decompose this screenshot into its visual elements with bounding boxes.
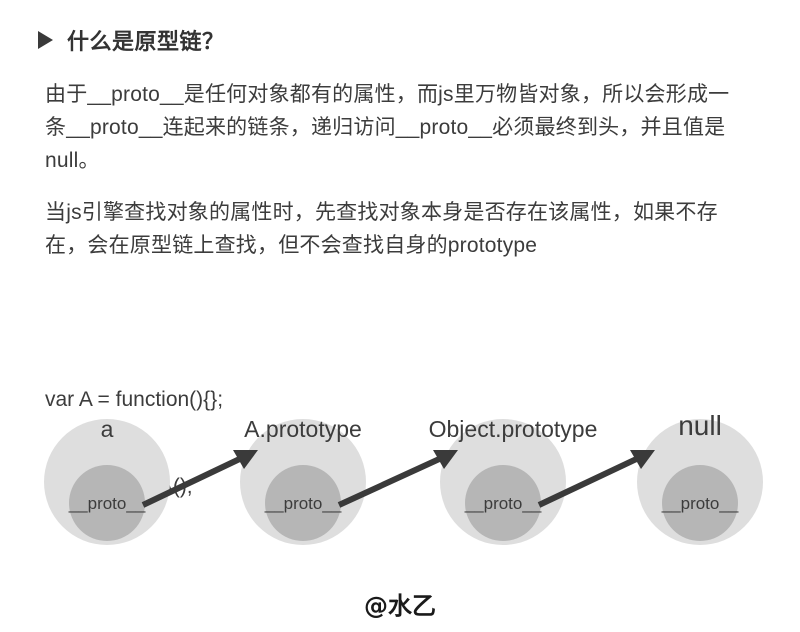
inner-label: __proto__ [464,494,542,513]
node-title: a [101,416,114,442]
chain-node-a-prototype: __proto__ A.prototype [240,416,366,545]
node-title: null [678,410,722,441]
inner-label: __proto__ [264,494,342,513]
node-title: A.prototype [244,416,362,442]
inner-label: __proto__ [68,494,146,513]
chain-node-object-prototype: __proto__ Object.prototype [429,416,598,545]
paragraph-lookup: 当js引擎查找对象的属性时，先查找对象本身是否存在该属性，如果不存在，会在原型链… [45,196,745,262]
author-watermark: @水乙 [0,586,800,621]
page-heading: 什么是原型链？ [38,24,225,56]
page-title: 什么是原型链？ [67,24,225,56]
inner-label: __proto__ [661,494,739,513]
triangle-right-icon [38,31,53,49]
paragraph-definition: 由于__proto__是任何对象都有的属性，而js里万物皆对象，所以会形成一条_… [45,78,745,177]
chain-node-null: __proto__ null [637,410,763,545]
prototype-chain-diagram: __proto__ a __proto__ A.prototype __prot… [0,392,800,572]
node-title: Object.prototype [429,416,598,442]
chain-node-a: __proto__ a [44,416,170,545]
